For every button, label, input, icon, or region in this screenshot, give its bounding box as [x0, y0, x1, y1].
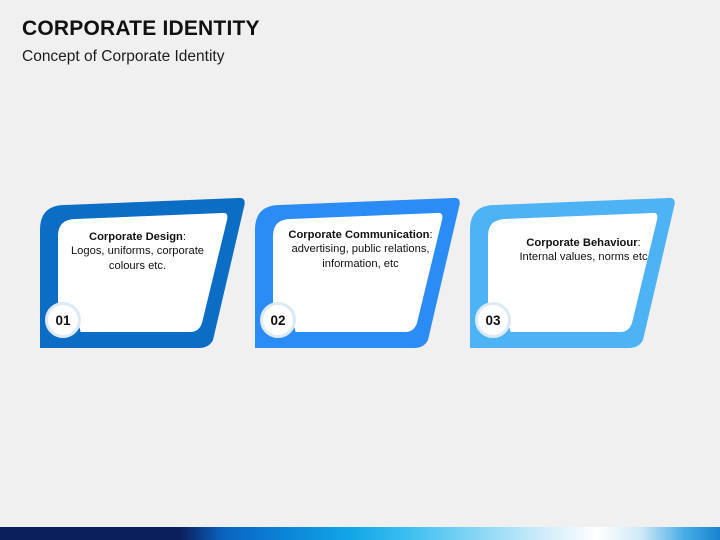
page-title: CORPORATE IDENTITY	[22, 16, 662, 42]
step-2-body: advertising, public relations, informati…	[291, 243, 429, 269]
step-card-2[interactable]: Corporate Communication: advertising, pu…	[248, 180, 493, 355]
steps-diagram: Corporate Design: Logos, uniforms, corpo…	[0, 180, 720, 360]
step-1-number: 01	[55, 313, 70, 328]
footer-gradient-bar	[0, 527, 720, 540]
step-1-number-badge: 01	[45, 302, 81, 338]
step-3-heading: Corporate Behaviour	[526, 237, 637, 249]
step-3-colon: :	[638, 237, 641, 249]
step-2-heading: Corporate Communication	[288, 229, 429, 241]
step-3-body: Internal values, norms etc	[519, 251, 647, 263]
step-1-heading: Corporate Design	[89, 231, 183, 243]
step-2-number: 02	[270, 313, 285, 328]
step-card-1[interactable]: Corporate Design: Logos, uniforms, corpo…	[33, 180, 278, 355]
step-3-number-badge: 03	[475, 302, 511, 338]
step-1-text: Corporate Design: Logos, uniforms, corpo…	[65, 230, 210, 273]
page-subtitle: Concept of Corporate Identity	[22, 46, 662, 68]
step-2-colon: :	[430, 229, 433, 241]
step-1-colon: :	[183, 231, 186, 243]
slide-canvas: CORPORATE IDENTITY Concept of Corporate …	[0, 0, 720, 540]
step-3-number: 03	[485, 313, 500, 328]
step-1-body: Logos, uniforms, corporate colours etc.	[71, 245, 204, 271]
step-3-text: Corporate Behaviour: Internal values, no…	[511, 236, 656, 265]
step-2-number-badge: 02	[260, 302, 296, 338]
step-card-3[interactable]: Corporate Behaviour: Internal values, no…	[463, 180, 708, 355]
step-2-text: Corporate Communication: advertising, pu…	[288, 228, 433, 271]
slide-header: CORPORATE IDENTITY Concept of Corporate …	[22, 16, 662, 68]
